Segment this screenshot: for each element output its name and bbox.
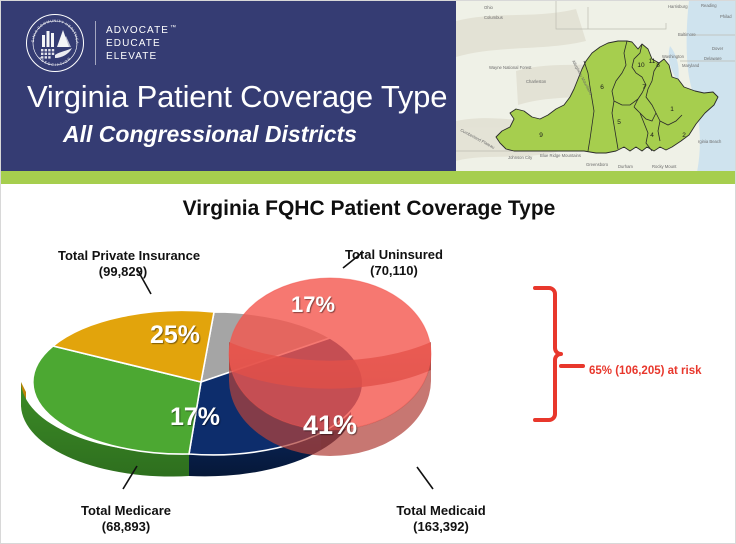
pie-chart xyxy=(1,184,736,544)
pie-label-medicaid-name: Total Medicaid xyxy=(356,503,526,519)
svg-text:Wayne National Forest: Wayne National Forest xyxy=(489,65,532,70)
pie-percent-medicare: 17% xyxy=(170,403,220,432)
logo-divider xyxy=(95,21,96,65)
map-district-label-11: 11 xyxy=(649,58,656,65)
organization-logo: VIRGINIA COMMUNITY HEALTHCARE ASSOCIATIO… xyxy=(25,13,169,73)
logo-tagline-line-3: ELEVATE xyxy=(106,50,169,63)
map-district-label-2: 2 xyxy=(682,132,686,139)
pie-percent-uninsured: 17% xyxy=(291,292,335,318)
map-district-label-4: 4 xyxy=(650,132,654,139)
vcha-seal-icon: VIRGINIA COMMUNITY HEALTHCARE ASSOCIATIO… xyxy=(25,13,85,73)
pie-label-medicare-count: (68,893) xyxy=(46,519,206,535)
svg-text:Washington: Washington xyxy=(662,54,685,59)
pie-label-private-insurance: Total Private Insurance (99,829) xyxy=(58,248,188,280)
svg-text:Johnson City: Johnson City xyxy=(508,155,533,160)
leader-medicaid xyxy=(417,467,433,489)
pie-percent-private-insurance: 25% xyxy=(150,321,200,350)
svg-text:Harrisburg: Harrisburg xyxy=(668,4,688,9)
pie-label-medicaid: Total Medicaid (163,392) xyxy=(356,503,526,535)
pie-label-uninsured: Total Uninsured (70,110) xyxy=(319,247,469,279)
svg-text:rginia Beach: rginia Beach xyxy=(698,139,722,144)
map-district-label-10: 10 xyxy=(637,62,645,69)
map-district-label-9: 9 xyxy=(539,132,543,139)
pie-label-medicare-name: Total Medicare xyxy=(46,503,206,519)
svg-text:Baltimore: Baltimore xyxy=(678,32,696,37)
map-district-label-6: 6 xyxy=(600,84,604,91)
svg-text:Blue Ridge Mountains: Blue Ridge Mountains xyxy=(540,153,581,158)
svg-text:Philad: Philad xyxy=(720,14,732,19)
page-title: Virginia Patient Coverage Type xyxy=(27,79,447,115)
svg-text:Durham: Durham xyxy=(618,164,633,169)
map-district-label-8: 8 xyxy=(656,62,660,69)
svg-text:Reading: Reading xyxy=(701,3,717,8)
logo-tagline-line-1: ADVOCATE xyxy=(106,24,169,37)
svg-text:Charleston: Charleston xyxy=(526,79,547,84)
at-risk-bracket xyxy=(535,288,583,420)
pie-label-uninsured-name: Total Uninsured xyxy=(319,247,469,263)
pie-label-medicaid-count: (163,392) xyxy=(356,519,526,535)
map-district-label-1: 1 xyxy=(670,106,674,113)
svg-text:Ohio: Ohio xyxy=(484,5,494,10)
logo-tagline: ™ ADVOCATE EDUCATE ELEVATE xyxy=(106,24,169,63)
svg-text:Rocky Mount: Rocky Mount xyxy=(652,164,677,169)
pie-label-private-insurance-count: (99,829) xyxy=(58,264,188,280)
svg-text:Maryland: Maryland xyxy=(682,63,700,68)
page-subtitle: All Congressional Districts xyxy=(63,121,357,148)
pie-label-private-insurance-name: Total Private Insurance xyxy=(58,248,188,264)
accent-stripe xyxy=(1,171,736,184)
header-band: VIRGINIA COMMUNITY HEALTHCARE ASSOCIATIO… xyxy=(1,1,456,171)
virginia-districts-map: 1 2 4 5 6 7 8 9 10 11 Ohio Columbus Harr… xyxy=(456,1,736,171)
svg-text:Greensboro: Greensboro xyxy=(586,162,609,167)
map-district-label-7: 7 xyxy=(642,84,646,91)
svg-text:Delaware: Delaware xyxy=(704,56,722,61)
pie-label-uninsured-count: (70,110) xyxy=(319,263,469,279)
pie-percent-medicaid: 41% xyxy=(303,410,357,441)
slide-canvas: VIRGINIA COMMUNITY HEALTHCARE ASSOCIATIO… xyxy=(0,0,736,544)
svg-text:Dover: Dover xyxy=(712,46,724,51)
logo-tagline-line-2: EDUCATE xyxy=(106,37,169,50)
svg-text:Columbus: Columbus xyxy=(484,15,503,20)
pie-label-medicare: Total Medicare (68,893) xyxy=(46,503,206,535)
at-risk-annotation: 65% (106,205) at risk xyxy=(589,365,702,377)
map-district-label-5: 5 xyxy=(617,119,621,126)
trademark-symbol: ™ xyxy=(170,22,176,35)
